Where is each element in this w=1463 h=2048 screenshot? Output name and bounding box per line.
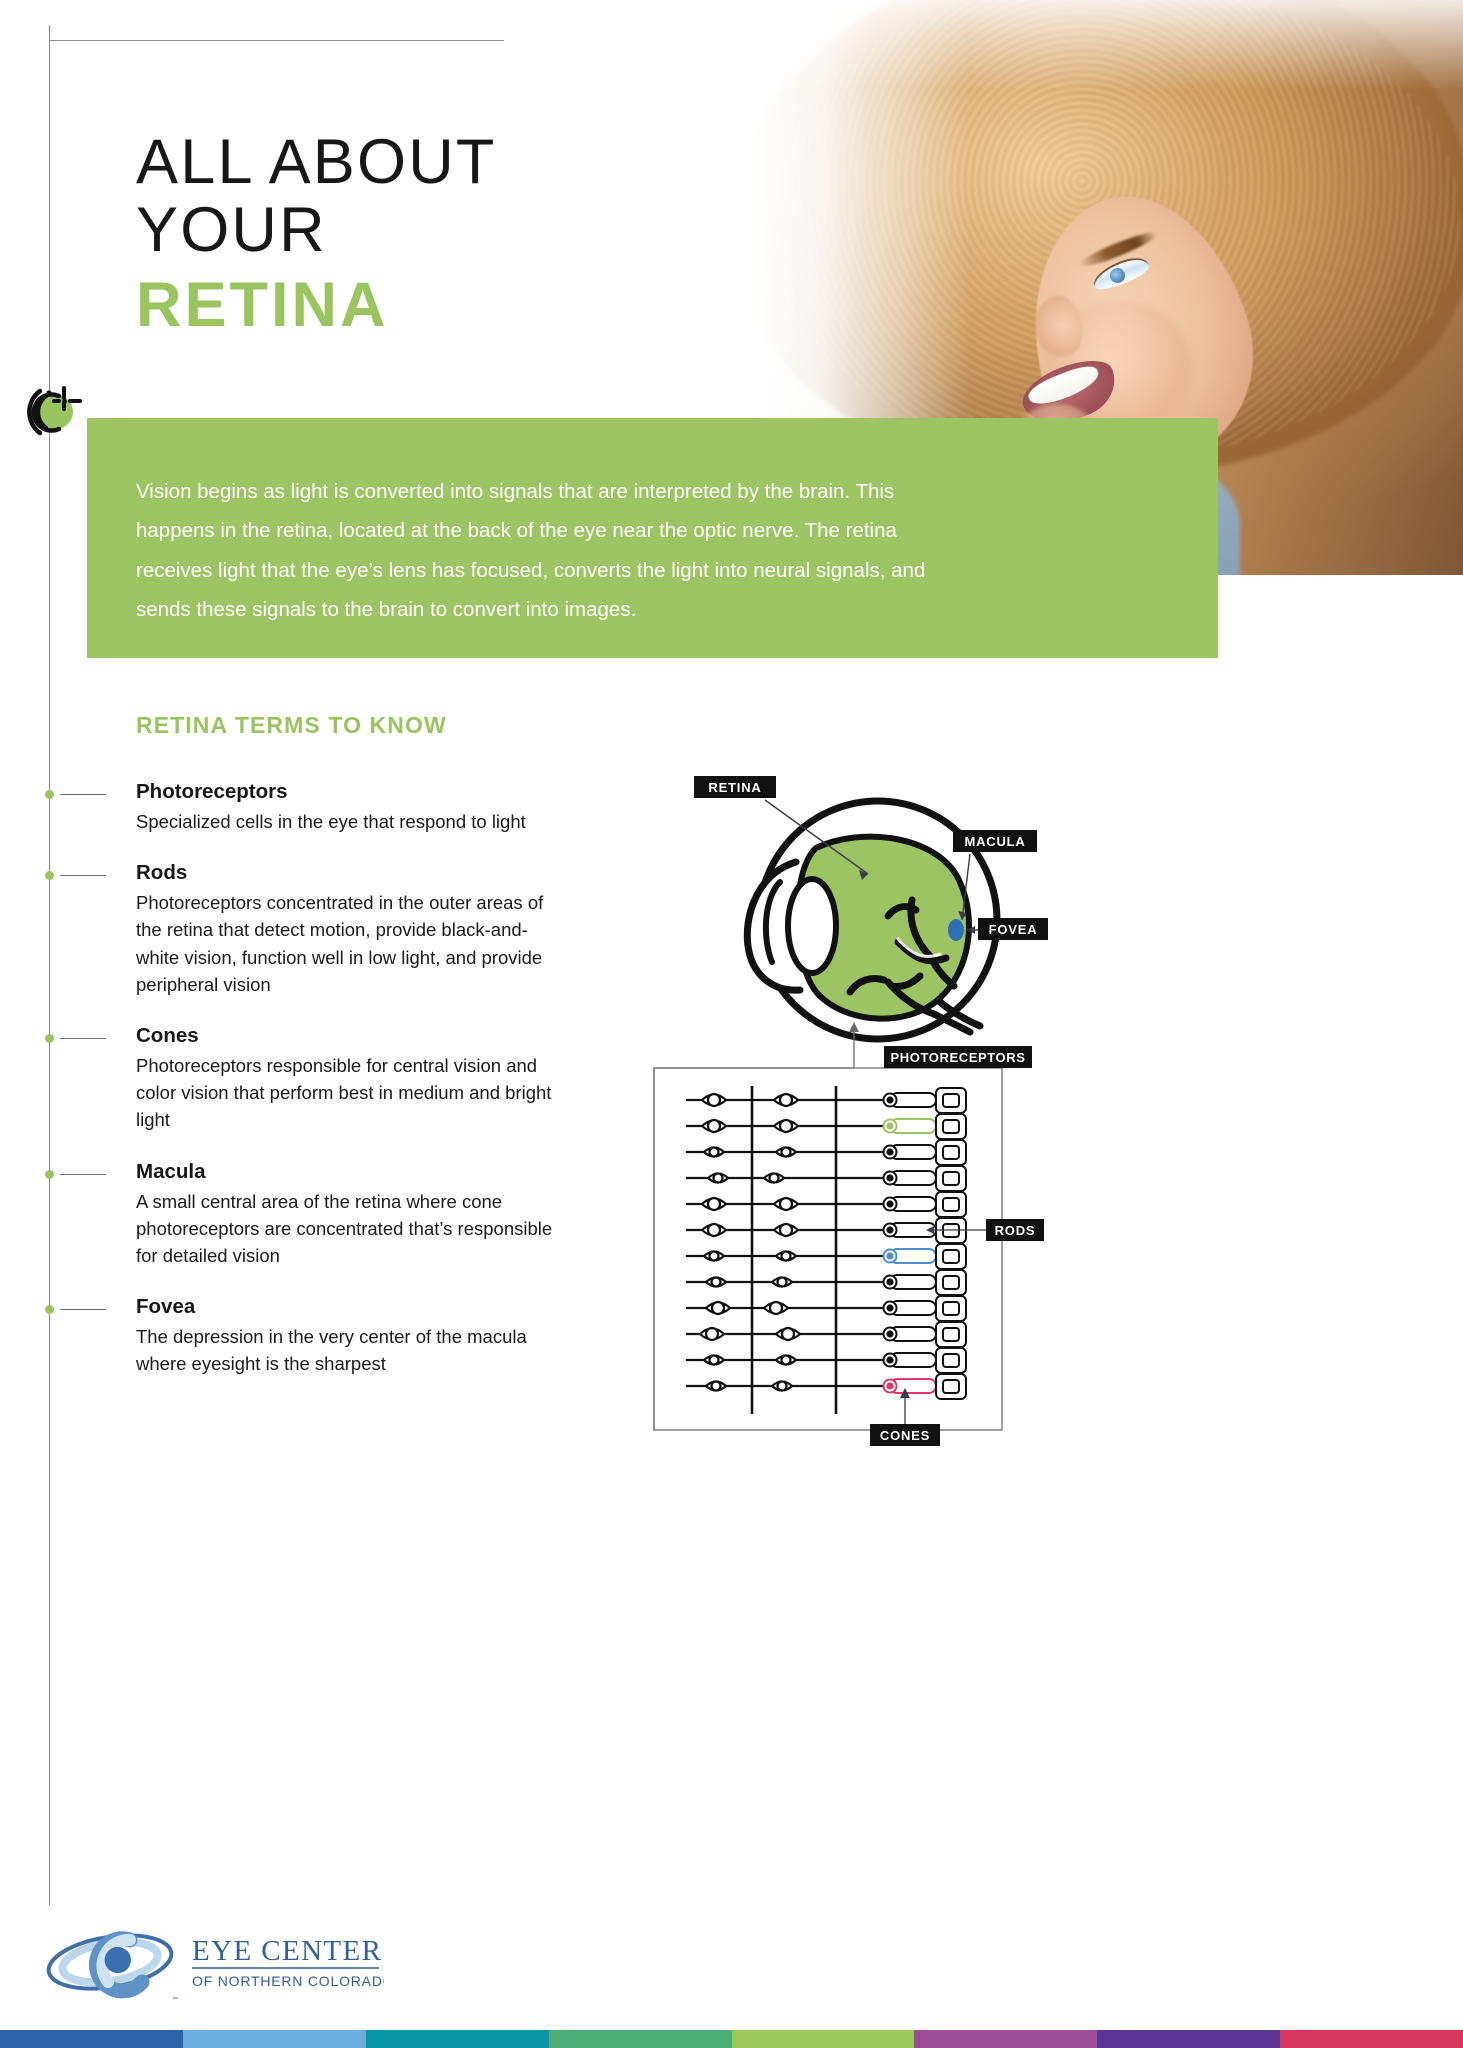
timeline-rail xyxy=(49,25,50,1905)
label-fovea-text: FOVEA xyxy=(989,922,1038,937)
list-item: Cones Photoreceptors responsible for cen… xyxy=(136,1024,566,1134)
label-rods-text: RODS xyxy=(995,1223,1036,1238)
timeline-dash xyxy=(60,875,106,876)
timeline-dash xyxy=(60,1309,106,1310)
colorbar-segment-1 xyxy=(0,2030,183,2048)
timeline-dash xyxy=(60,794,106,795)
timeline-dash xyxy=(60,1038,106,1039)
list-item: Rods Photoreceptors concentrated in the … xyxy=(136,861,566,998)
term-title: Rods xyxy=(136,861,566,885)
terms-section-heading: RETINA TERMS TO KNOW xyxy=(136,712,447,739)
list-item: Fovea The depression in the very center … xyxy=(136,1295,566,1377)
term-title: Fovea xyxy=(136,1295,566,1319)
trademark-mark: ™ xyxy=(172,1996,178,2003)
cell-highlight-pink xyxy=(884,1379,937,1393)
logo-line-2: OF NORTHERN COLORADO xyxy=(192,1973,384,1989)
term-definition: The depression in the very center of the… xyxy=(136,1323,566,1377)
photoreceptor-cells xyxy=(884,1093,937,1393)
term-definition: A small central area of the retina where… xyxy=(136,1188,566,1270)
label-macula-text: MACULA xyxy=(964,834,1025,849)
title-line-3: RETINA xyxy=(136,268,497,342)
colorbar-segment-7 xyxy=(1097,2030,1280,2048)
timeline-dot xyxy=(45,790,54,799)
timeline-dot xyxy=(45,1034,54,1043)
brand-logo: ™ EYE CENTER OF NORTHERN COLORADO xyxy=(44,1918,384,2004)
list-item: Macula A small central area of the retin… xyxy=(136,1160,566,1270)
vision-eye-icon xyxy=(18,370,90,442)
title-line-2: YOUR xyxy=(136,196,497,264)
intro-paragraph: Vision begins as light is converted into… xyxy=(136,472,956,629)
cell-highlight-green xyxy=(884,1119,937,1133)
brand-colorbar xyxy=(0,2030,1463,2048)
label-photoreceptors: PHOTORECEPTORS xyxy=(884,1046,1032,1068)
rail-top-tick xyxy=(49,40,504,41)
retina-anatomy-diagram: RETINA MACULA FOVEA xyxy=(640,770,1060,1450)
timeline-dot xyxy=(45,1170,54,1179)
terms-list: Photoreceptors Specialized cells in the … xyxy=(136,780,566,1403)
timeline-dot xyxy=(45,871,54,880)
photoreceptor-panel xyxy=(654,1068,1002,1430)
infographic-page: ALL ABOUT YOUR RETINA Vision begins as l… xyxy=(0,0,1463,2048)
term-definition: Photoreceptors concentrated in the outer… xyxy=(136,889,566,998)
cell-highlight-blue xyxy=(884,1249,937,1263)
page-title: ALL ABOUT YOUR RETINA xyxy=(136,128,497,342)
title-line-1: ALL ABOUT xyxy=(136,128,497,196)
term-title: Cones xyxy=(136,1024,566,1048)
term-definition: Photoreceptors responsible for central v… xyxy=(136,1052,566,1134)
colorbar-segment-2 xyxy=(183,2030,366,2048)
colorbar-segment-3 xyxy=(366,2030,549,2048)
term-title: Photoreceptors xyxy=(136,780,566,804)
term-title: Macula xyxy=(136,1160,566,1184)
label-cones: CONES xyxy=(870,1388,940,1446)
diagram-connector xyxy=(654,1022,859,1430)
label-cones-text: CONES xyxy=(880,1428,930,1443)
pigment-epithelium xyxy=(936,1088,966,1399)
label-photoreceptors-text: PHOTORECEPTORS xyxy=(890,1050,1025,1065)
label-fovea: FOVEA xyxy=(967,918,1048,940)
timeline-dash xyxy=(60,1174,106,1175)
term-definition: Specialized cells in the eye that respon… xyxy=(136,808,566,835)
fovea-dot xyxy=(948,919,964,941)
colorbar-segment-5 xyxy=(732,2030,915,2048)
colorbar-segment-6 xyxy=(914,2030,1097,2048)
list-item: Photoreceptors Specialized cells in the … xyxy=(136,780,566,835)
colorbar-segment-8 xyxy=(1280,2030,1463,2048)
colorbar-segment-4 xyxy=(549,2030,732,2048)
logo-line-1: EYE CENTER xyxy=(192,1935,382,1967)
label-retina-text: RETINA xyxy=(708,780,761,795)
timeline-dot xyxy=(45,1305,54,1314)
